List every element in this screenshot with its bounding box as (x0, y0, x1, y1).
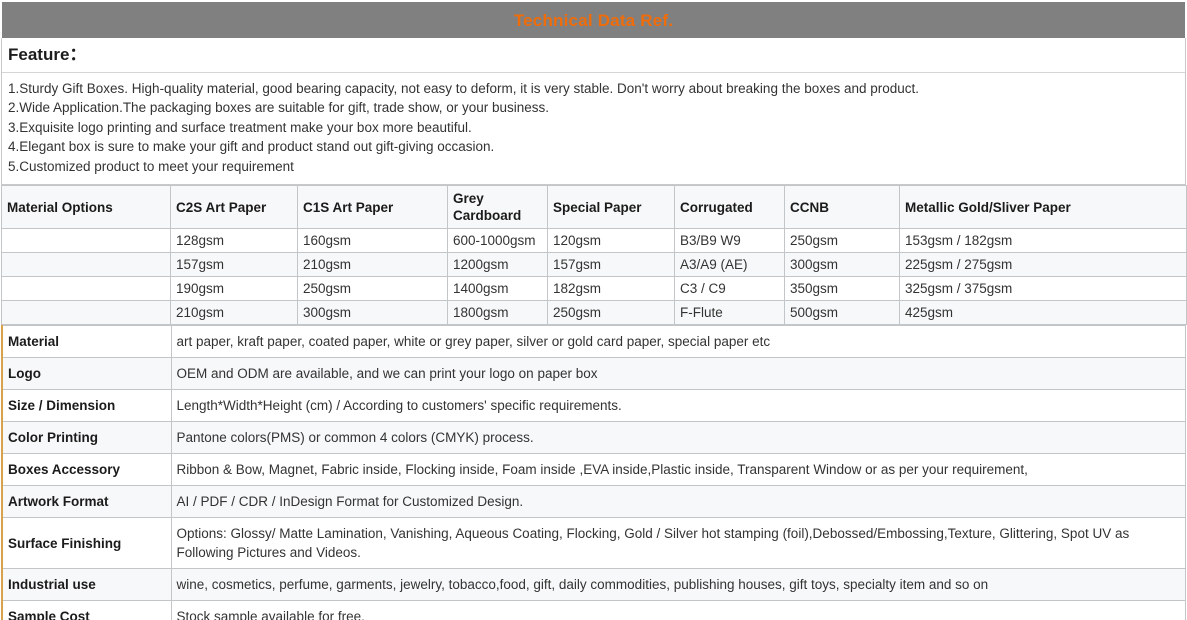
cell-c2s: 190gsm (171, 277, 298, 301)
cell-c1s: 250gsm (298, 277, 448, 301)
cell-special-paper: 250gsm (548, 301, 675, 325)
table-row: 157gsm 210gsm 1200gsm 157gsm A3/A9 (AE) … (2, 253, 1187, 277)
attribute-row-sample-cost: Sample Cost Stock sample available for f… (2, 601, 1186, 620)
attribute-row-size-dimension: Size / Dimension Length*Width*Height (cm… (2, 390, 1186, 422)
page-title: Technical Data Ref. (514, 12, 673, 29)
table-header-row: Material Options C2S Art Paper C1S Art P… (2, 186, 1187, 229)
material-options-table: Material Options C2S Art Paper C1S Art P… (1, 185, 1187, 325)
cell-grey-cardboard: 1200gsm (448, 253, 548, 277)
attribute-row-industrial-use: Industrial use wine, cosmetics, perfume,… (2, 569, 1186, 601)
attribute-label: Size / Dimension (2, 390, 171, 422)
technical-data-page: Technical Data Ref. Feature： 1.Sturdy Gi… (0, 0, 1187, 620)
attribute-value: Ribbon & Bow, Magnet, Fabric inside, Flo… (171, 454, 1186, 486)
cell-ccnb: 250gsm (785, 229, 900, 253)
attribute-row-logo: Logo OEM and ODM are available, and we c… (2, 358, 1186, 390)
feature-line: 1.Sturdy Gift Boxes. High-quality materi… (8, 79, 1179, 99)
cell-c1s: 210gsm (298, 253, 448, 277)
attribute-row-surface-finishing: Surface Finishing Options: Glossy/ Matte… (2, 518, 1186, 569)
feature-line: 3.Exquisite logo printing and surface tr… (8, 118, 1179, 138)
column-header-corrugated: Corrugated (675, 186, 785, 229)
attribute-row-boxes-accessory: Boxes Accessory Ribbon & Bow, Magnet, Fa… (2, 454, 1186, 486)
cell-grey-cardboard: 1400gsm (448, 277, 548, 301)
cell-c2s: 128gsm (171, 229, 298, 253)
column-header-special-paper: Special Paper (548, 186, 675, 229)
cell-corrugated: F-Flute (675, 301, 785, 325)
table-row: 210gsm 300gsm 1800gsm 250gsm F-Flute 500… (2, 301, 1187, 325)
column-header-grey-cardboard: Grey Cardboard (448, 186, 548, 229)
column-header-material-options: Material Options (2, 186, 171, 229)
attribute-label: Color Printing (2, 422, 171, 454)
cell-metallic: 325gsm / 375gsm (900, 277, 1187, 301)
attribute-label: Logo (2, 358, 171, 390)
cell-c2s: 157gsm (171, 253, 298, 277)
cell-metallic: 153gsm / 182gsm (900, 229, 1187, 253)
column-header-metallic-paper: Metallic Gold/Sliver Paper (900, 186, 1187, 229)
cell-material-options (2, 229, 171, 253)
feature-line: 4.Elegant box is sure to make your gift … (8, 137, 1179, 157)
column-header-ccnb: CCNB (785, 186, 900, 229)
attribute-label: Artwork Format (2, 486, 171, 518)
attribute-label: Surface Finishing (2, 518, 171, 569)
feature-section: Feature： 1.Sturdy Gift Boxes. High-quali… (1, 38, 1186, 185)
attribute-value: art paper, kraft paper, coated paper, wh… (171, 326, 1186, 358)
attribute-row-material: Material art paper, kraft paper, coated … (2, 326, 1186, 358)
cell-c2s: 210gsm (171, 301, 298, 325)
attribute-label: Industrial use (2, 569, 171, 601)
cell-c1s: 300gsm (298, 301, 448, 325)
attribute-value: wine, cosmetics, perfume, garments, jewe… (171, 569, 1186, 601)
cell-material-options (2, 277, 171, 301)
attribute-value: Length*Width*Height (cm) / According to … (171, 390, 1186, 422)
attributes-table: Material art paper, kraft paper, coated … (1, 325, 1186, 620)
table-row: 190gsm 250gsm 1400gsm 182gsm C3 / C9 350… (2, 277, 1187, 301)
column-header-c2s-art-paper: C2S Art Paper (171, 186, 298, 229)
attribute-label: Boxes Accessory (2, 454, 171, 486)
cell-corrugated: C3 / C9 (675, 277, 785, 301)
cell-material-options (2, 301, 171, 325)
page-title-banner: Technical Data Ref. (0, 0, 1187, 38)
feature-heading: Feature： (2, 38, 1185, 73)
cell-ccnb: 300gsm (785, 253, 900, 277)
attribute-row-color-printing: Color Printing Pantone colors(PMS) or co… (2, 422, 1186, 454)
cell-special-paper: 182gsm (548, 277, 675, 301)
attribute-value: AI / PDF / CDR / InDesign Format for Cus… (171, 486, 1186, 518)
attribute-label: Sample Cost (2, 601, 171, 620)
feature-line: 2.Wide Application.The packaging boxes a… (8, 98, 1179, 118)
feature-list: 1.Sturdy Gift Boxes. High-quality materi… (2, 73, 1185, 185)
cell-material-options (2, 253, 171, 277)
attribute-label: Material (2, 326, 171, 358)
cell-metallic: 225gsm / 275gsm (900, 253, 1187, 277)
column-header-c1s-art-paper: C1S Art Paper (298, 186, 448, 229)
cell-c1s: 160gsm (298, 229, 448, 253)
attribute-value: Stock sample available for free. (171, 601, 1186, 620)
cell-corrugated: A3/A9 (AE) (675, 253, 785, 277)
attribute-value: Options: Glossy/ Matte Lamination, Vanis… (171, 518, 1186, 569)
cell-grey-cardboard: 600-1000gsm (448, 229, 548, 253)
feature-line: 5.Customized product to meet your requir… (8, 157, 1179, 177)
cell-metallic: 425gsm (900, 301, 1187, 325)
attribute-row-artwork-format: Artwork Format AI / PDF / CDR / InDesign… (2, 486, 1186, 518)
cell-grey-cardboard: 1800gsm (448, 301, 548, 325)
table-row: 128gsm 160gsm 600-1000gsm 120gsm B3/B9 W… (2, 229, 1187, 253)
attribute-value: Pantone colors(PMS) or common 4 colors (… (171, 422, 1186, 454)
attribute-value: OEM and ODM are available, and we can pr… (171, 358, 1186, 390)
cell-ccnb: 350gsm (785, 277, 900, 301)
cell-special-paper: 120gsm (548, 229, 675, 253)
cell-ccnb: 500gsm (785, 301, 900, 325)
cell-special-paper: 157gsm (548, 253, 675, 277)
cell-corrugated: B3/B9 W9 (675, 229, 785, 253)
